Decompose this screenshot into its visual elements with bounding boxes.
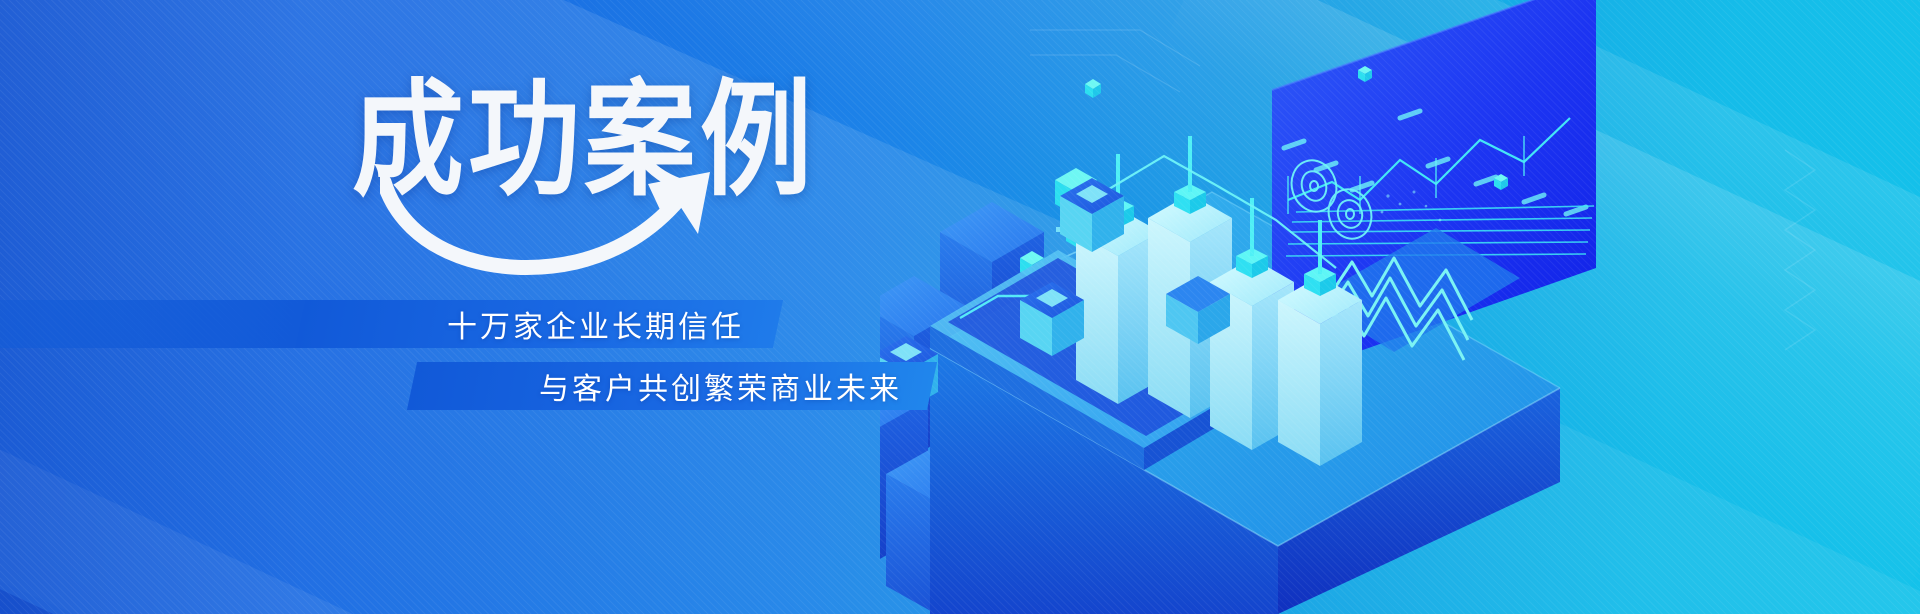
subtitle-line-1: 十万家企业长期信任: [447, 302, 744, 346]
faint-grid-lines: [1030, 30, 1200, 92]
success-cases-banner: 成功案例 十万家企业长期信任 与客户共创繁荣商业未来: [0, 0, 1920, 614]
hex-marker: [1085, 79, 1101, 98]
subtitle-band-1-bleed: [0, 300, 330, 348]
subtitle-line-2: 与客户共创繁荣商业未来: [539, 364, 902, 408]
isometric-data-city-illustration: [880, 0, 1920, 614]
subtitle-band-2: 与客户共创繁荣商业未来: [407, 362, 937, 410]
column-pin: [1174, 136, 1206, 214]
subtitle-band-1: 十万家企业长期信任: [295, 300, 783, 348]
upward-curved-arrow-icon: [380, 158, 740, 278]
banner-text-block: 成功案例 十万家企业长期信任 与客户共创繁荣商业未来: [0, 0, 980, 614]
